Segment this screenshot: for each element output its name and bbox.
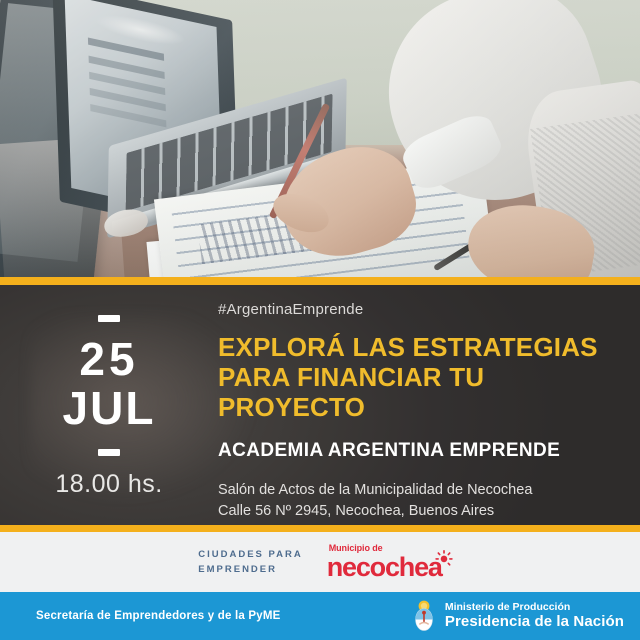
dash-top [98,315,120,322]
necochea-wordmark: necochea [327,554,442,581]
ministry-name: Ministerio de Producción [445,601,624,613]
dash-bottom [98,449,120,456]
presidency-name: Presidencia de la Nación [445,613,624,630]
event-month: JUL [63,384,156,434]
divider-yellow-top [0,277,640,285]
footer-ministry-block: Ministerio de Producción Presidencia de … [411,599,624,633]
event-text-block: #ArgentinaEmprende EXPLORÁ LAS ESTRATEGI… [218,285,640,525]
event-venue: Salón de Actos de la Municipalidad de Ne… [218,480,618,522]
event-day: 25 [79,336,138,382]
event-hashtag: #ArgentinaEmprende [218,301,618,318]
event-venue-line2: Calle 56 Nº 2945, Necochea, Buenos Aires [218,501,618,522]
event-venue-line1: Salón de Actos de la Municipalidad de Ne… [218,480,618,501]
logo-ciudades-para-emprender: CIUDADES PARA EMPRENDER [198,547,302,577]
logo-municipio-necochea: Municipio de necochea [327,544,442,581]
event-time: 18.00 hs. [55,470,162,499]
ciudades-line2: EMPRENDER [198,562,302,577]
event-subtitle: ACADEMIA ARGENTINA EMPRENDE [218,440,618,462]
footer-secretaria: Secretaría de Emprendedores y de la PyME [36,610,281,622]
footer-bar: Secretaría de Emprendedores y de la PyME… [0,592,640,640]
argentina-coat-of-arms-icon [411,599,437,633]
ciudades-line1: CIUDADES PARA [198,547,302,562]
hero-photo [0,0,640,277]
event-headline-line2: PARA FINANCIAR TU PROYECTO [218,362,618,422]
event-poster: 25 JUL 18.00 hs. #ArgentinaEmprende EXPL… [0,0,640,640]
divider-yellow-bottom [0,525,640,532]
sponsor-logo-strip: CIUDADES PARA EMPRENDER Municipio de nec… [0,532,640,592]
ministry-text: Ministerio de Producción Presidencia de … [445,601,624,630]
event-details-panel: 25 JUL 18.00 hs. #ArgentinaEmprende EXPL… [0,285,640,525]
event-headline: EXPLORÁ LAS ESTRATEGIAS PARA FINANCIAR T… [218,332,618,422]
event-headline-line1: EXPLORÁ LAS ESTRATEGIAS [218,332,618,362]
event-date-block: 25 JUL 18.00 hs. [0,285,218,525]
sun-icon [433,547,455,569]
